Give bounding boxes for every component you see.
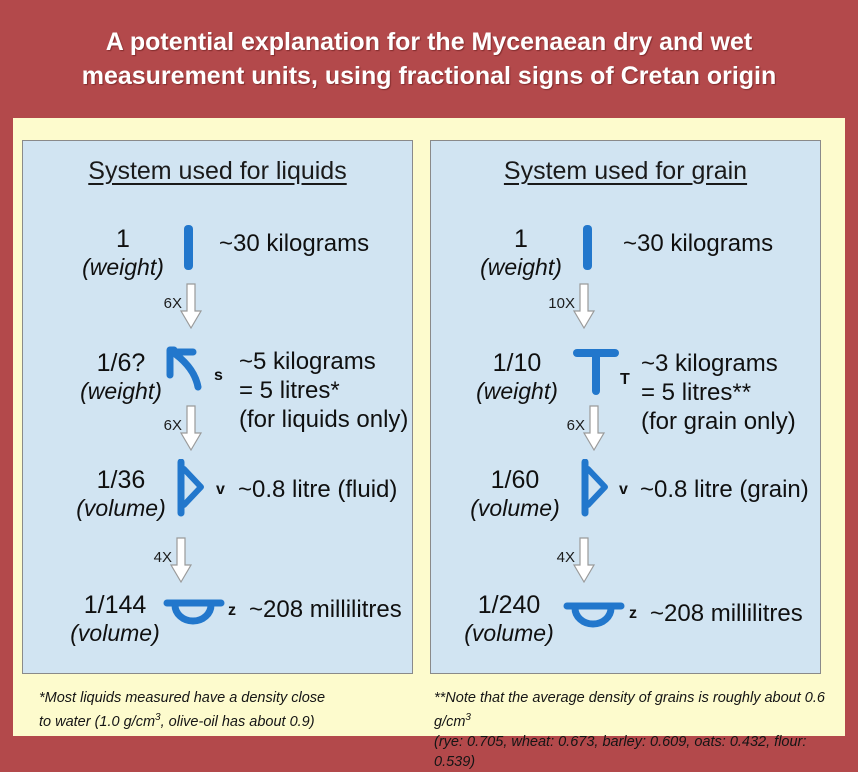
- fraction-label-grain-3: 1/60 (volume): [445, 466, 585, 522]
- arrow-down-grain-1: 10X: [521, 283, 601, 331]
- arrow-down-liquids-1: 6X: [128, 283, 208, 331]
- content-panel: System used for liquids 1 (weight) ~30 k…: [13, 118, 845, 736]
- arrow-down-grain-2: 6X: [531, 405, 611, 453]
- fraction-label-liquids-1: 1 (weight): [53, 225, 193, 281]
- arrow-down-icon: [571, 283, 597, 331]
- tee-sign-icon-grain-2: [571, 345, 623, 397]
- header-banner: A potential explanation for the Mycenaea…: [0, 0, 858, 118]
- value-liquids-3: ~0.8 litre (fluid): [238, 475, 397, 504]
- value-liquids-1: ~30 kilograms: [219, 229, 369, 258]
- footnote-grain-line1: **Note that the average density of grain…: [434, 688, 849, 732]
- sign-letter-liquids-2: s: [214, 367, 223, 385]
- triangle-sign-icon-grain-3: [579, 459, 615, 517]
- footnote-grain-line2: (rye: 0.705, wheat: 0.673, barley: 0.609…: [434, 732, 849, 772]
- value-grain-4: ~208 millilitres: [650, 599, 803, 628]
- footnote-liquids-line1: *Most liquids measured have a density cl…: [39, 688, 409, 708]
- page-title: A potential explanation for the Mycenaea…: [49, 25, 809, 93]
- arrow-down-icon: [178, 405, 204, 453]
- sign-letter-grain-4: z: [629, 605, 637, 623]
- bowl-sign-icon-grain-4: [563, 596, 625, 636]
- sign-letter-liquids-4: z: [228, 602, 236, 620]
- arrow-down-icon: [178, 283, 204, 331]
- hook-sign-icon-liquids-2: [165, 343, 213, 395]
- value-liquids-4: ~208 millilitres: [249, 595, 402, 624]
- value-grain-1: ~30 kilograms: [623, 229, 773, 258]
- value-grain-3: ~0.8 litre (grain): [640, 475, 809, 504]
- system-column-liquids: System used for liquids 1 (weight) ~30 k…: [22, 140, 413, 674]
- bar-sign-icon-grain-1: [583, 225, 592, 270]
- system-column-grain: System used for grain 1 (weight) ~30 kil…: [430, 140, 821, 674]
- arrow-down-grain-3: 4X: [521, 537, 601, 585]
- arrow-down-liquids-3: 4X: [118, 537, 198, 585]
- fraction-label-liquids-3: 1/36 (volume): [51, 466, 191, 522]
- arrow-down-icon: [571, 537, 597, 585]
- sign-letter-liquids-3: v: [216, 481, 225, 499]
- value-grain-2: ~3 kilograms = 5 litres** (for grain onl…: [641, 349, 796, 436]
- arrow-down-icon: [581, 405, 607, 453]
- footnote-liquids-line2: to water (1.0 g/cm3, olive-oil has about…: [39, 708, 409, 732]
- arrow-down-icon: [168, 537, 194, 585]
- fraction-label-grain-4: 1/240 (volume): [439, 591, 579, 647]
- value-liquids-2: ~5 kilograms = 5 litres* (for liquids on…: [239, 347, 408, 434]
- sign-letter-grain-2: T: [620, 371, 630, 389]
- sign-letter-grain-3: v: [619, 481, 628, 499]
- arrow-down-liquids-2: 6X: [128, 405, 208, 453]
- column-title-grain: System used for grain: [431, 157, 820, 186]
- fraction-label-grain-1: 1 (weight): [451, 225, 591, 281]
- footnote-liquids: *Most liquids measured have a density cl…: [39, 688, 409, 732]
- bar-sign-icon-liquids-1: [184, 225, 193, 270]
- footnote-grain: **Note that the average density of grain…: [434, 688, 849, 772]
- fraction-label-grain-2: 1/10 (weight): [447, 349, 587, 405]
- triangle-sign-icon-liquids-3: [175, 459, 211, 517]
- bowl-sign-icon-liquids-4: [163, 593, 225, 633]
- column-title-liquids: System used for liquids: [23, 157, 412, 186]
